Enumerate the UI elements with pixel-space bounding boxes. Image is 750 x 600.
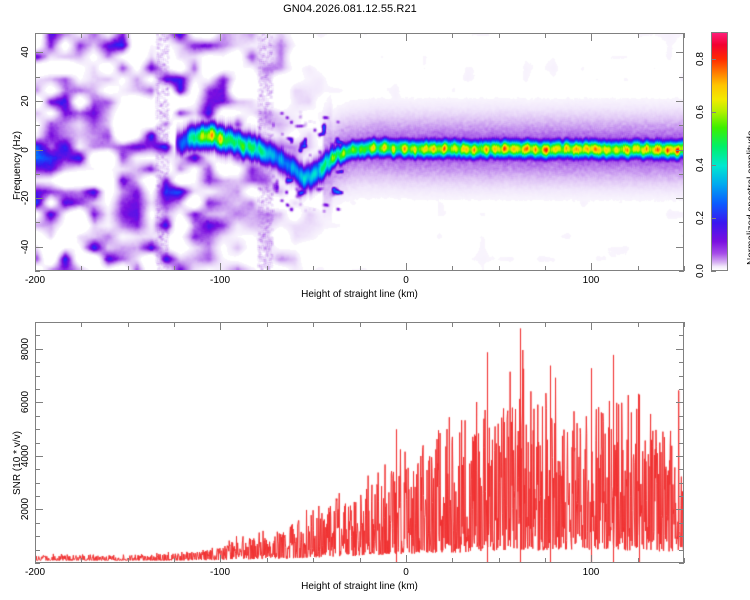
x-major-tick [220, 33, 221, 41]
y-major-tick [676, 349, 684, 350]
y-minor-tick [35, 496, 40, 497]
x-tick-label: -100 [198, 275, 242, 286]
x-major-tick [406, 555, 407, 563]
y-minor-tick [679, 429, 684, 430]
x-minor-tick [638, 266, 639, 271]
snr-panel [35, 322, 684, 563]
x-minor-tick [545, 558, 546, 563]
y-major-tick [676, 402, 684, 403]
y-minor-tick [35, 77, 40, 78]
x-minor-tick [267, 322, 268, 327]
y-minor-tick [679, 469, 684, 470]
y-minor-tick [679, 125, 684, 126]
y-minor-tick [35, 362, 40, 363]
y-major-tick [676, 247, 684, 248]
y-minor-tick [35, 550, 40, 551]
y-minor-tick [35, 483, 40, 484]
x-minor-tick [545, 33, 546, 38]
spectrogram-canvas [36, 34, 683, 270]
x-minor-tick [128, 322, 129, 327]
x-minor-tick [174, 558, 175, 563]
y-major-tick [676, 52, 684, 53]
y-minor-tick [679, 536, 684, 537]
x-minor-tick [452, 266, 453, 271]
x-tick-label: -200 [13, 567, 57, 578]
y-major-tick [676, 150, 684, 151]
colorbar-tick [711, 59, 716, 60]
x-minor-tick [452, 322, 453, 327]
figure-root: GN04.2026.081.12.55.R21 -200-1000100-40-… [0, 0, 750, 600]
x-minor-tick [128, 558, 129, 563]
x-major-tick [591, 322, 592, 330]
y-minor-tick [679, 523, 684, 524]
x-major-tick [35, 322, 36, 330]
x-tick-label: 100 [569, 567, 613, 578]
x-major-tick [591, 555, 592, 563]
x-minor-tick [360, 33, 361, 38]
y-minor-tick [679, 483, 684, 484]
x-major-tick [35, 555, 36, 563]
x-minor-tick [545, 322, 546, 327]
colorbar-tick [711, 112, 716, 113]
y-minor-tick [679, 322, 684, 323]
x-tick-label: -100 [198, 567, 242, 578]
x-minor-tick [81, 266, 82, 271]
spectrogram-panel [35, 33, 684, 271]
x-minor-tick [360, 558, 361, 563]
y-major-tick [676, 509, 684, 510]
y-minor-tick [35, 125, 40, 126]
x-minor-tick [684, 558, 685, 563]
y-minor-tick [679, 389, 684, 390]
x-major-tick [406, 263, 407, 271]
x-tick-label: 0 [384, 275, 428, 286]
y-tick-label: 40 [20, 46, 31, 57]
y-minor-tick [35, 376, 40, 377]
x-major-tick [35, 33, 36, 41]
x-major-tick [406, 33, 407, 41]
x-minor-tick [267, 266, 268, 271]
spectrogram-xlabel: Height of straight line (km) [0, 289, 719, 300]
y-major-tick [35, 150, 43, 151]
colorbar-tick [711, 271, 716, 272]
y-major-tick [35, 198, 43, 199]
x-major-tick [406, 322, 407, 330]
y-major-tick [35, 456, 43, 457]
x-minor-tick [313, 33, 314, 38]
colorbar-tick-label: 0.6 [695, 105, 706, 119]
y-major-tick [676, 456, 684, 457]
y-minor-tick [679, 362, 684, 363]
x-minor-tick [174, 33, 175, 38]
y-minor-tick [35, 174, 40, 175]
spectrogram-ylabel: Frequency (Hz) [12, 131, 23, 200]
x-minor-tick [313, 558, 314, 563]
y-minor-tick [35, 222, 40, 223]
y-major-tick [35, 509, 43, 510]
colorbar-tick-label: 0.2 [695, 211, 706, 225]
x-minor-tick [545, 266, 546, 271]
snr-xlabel: Height of straight line (km) [0, 581, 719, 592]
x-minor-tick [313, 266, 314, 271]
x-minor-tick [499, 322, 500, 327]
x-minor-tick [81, 33, 82, 38]
x-minor-tick [360, 322, 361, 327]
x-major-tick [35, 263, 36, 271]
y-minor-tick [35, 563, 40, 564]
y-major-tick [35, 247, 43, 248]
y-minor-tick [679, 376, 684, 377]
y-minor-tick [679, 563, 684, 564]
y-major-tick [35, 349, 43, 350]
y-minor-tick [35, 536, 40, 537]
y-minor-tick [35, 443, 40, 444]
y-tick-label: 2000 [20, 498, 31, 520]
y-minor-tick [679, 77, 684, 78]
y-minor-tick [679, 443, 684, 444]
x-minor-tick [128, 33, 129, 38]
colorbar-tick [711, 165, 716, 166]
x-minor-tick [81, 558, 82, 563]
y-tick-label: 20 [20, 95, 31, 106]
x-minor-tick [267, 558, 268, 563]
x-major-tick [220, 555, 221, 563]
y-major-tick [35, 402, 43, 403]
x-minor-tick [638, 33, 639, 38]
colorbar [711, 32, 728, 271]
x-minor-tick [499, 558, 500, 563]
x-major-tick [591, 263, 592, 271]
x-minor-tick [452, 33, 453, 38]
colorbar-tick-label: 0.4 [695, 158, 706, 172]
x-minor-tick [360, 266, 361, 271]
y-minor-tick [679, 416, 684, 417]
x-minor-tick [81, 322, 82, 327]
y-minor-tick [35, 335, 40, 336]
y-major-tick [35, 101, 43, 102]
colorbar-tick-label: 0.8 [695, 52, 706, 66]
y-major-tick [676, 101, 684, 102]
x-tick-label: -200 [13, 275, 57, 286]
x-minor-tick [174, 266, 175, 271]
y-minor-tick [679, 550, 684, 551]
x-minor-tick [128, 266, 129, 271]
y-minor-tick [35, 416, 40, 417]
y-minor-tick [35, 389, 40, 390]
y-minor-tick [35, 429, 40, 430]
x-minor-tick [313, 322, 314, 327]
x-minor-tick [499, 266, 500, 271]
x-minor-tick [174, 322, 175, 327]
snr-ylabel: SNR (10 * v/v) [12, 431, 23, 495]
y-minor-tick [35, 469, 40, 470]
colorbar-tick-label: 0.0 [695, 264, 706, 278]
y-tick-label: -40 [20, 240, 31, 254]
page-title: GN04.2026.081.12.55.R21 [0, 3, 700, 15]
y-minor-tick [679, 496, 684, 497]
x-minor-tick [452, 558, 453, 563]
y-tick-label: 6000 [20, 391, 31, 413]
snr-canvas [36, 323, 683, 562]
x-major-tick [220, 263, 221, 271]
x-minor-tick [638, 558, 639, 563]
colorbar-tick [711, 218, 716, 219]
y-minor-tick [679, 335, 684, 336]
x-minor-tick [638, 322, 639, 327]
x-major-tick [220, 322, 221, 330]
y-major-tick [35, 52, 43, 53]
x-minor-tick [267, 33, 268, 38]
x-tick-label: 0 [384, 567, 428, 578]
y-minor-tick [35, 271, 40, 272]
x-minor-tick [684, 266, 685, 271]
y-major-tick [676, 198, 684, 199]
y-minor-tick [679, 222, 684, 223]
x-minor-tick [684, 322, 685, 327]
x-minor-tick [499, 33, 500, 38]
y-minor-tick [679, 174, 684, 175]
y-minor-tick [679, 271, 684, 272]
y-minor-tick [35, 523, 40, 524]
y-tick-label: 8000 [20, 338, 31, 360]
y-minor-tick [35, 322, 40, 323]
colorbar-label: Normalized spectral amplitude [746, 130, 750, 265]
x-tick-label: 100 [569, 275, 613, 286]
x-minor-tick [684, 33, 685, 38]
x-major-tick [591, 33, 592, 41]
